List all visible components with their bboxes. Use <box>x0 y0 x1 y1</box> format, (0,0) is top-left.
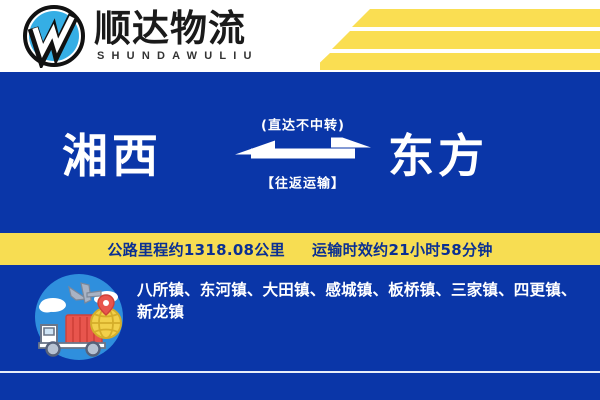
distance-text: 公路里程约1318.08公里 <box>107 241 285 259</box>
origin-city: 湘西 <box>62 120 162 186</box>
towns-list: 八所镇、东河镇、大田镇、感城镇、板桥镇、三家镇、四更镇、新龙镇 <box>137 279 579 323</box>
info-bar-content: 公路里程约1318.08公里 运输时效约21小时58分钟 <box>107 239 492 260</box>
brand-name-cn: 顺达物流 <box>94 10 259 49</box>
decorative-stripes <box>320 0 600 72</box>
brand-text: 顺达物流 SHUNDAWULIU <box>94 10 259 63</box>
brand-logo: 顺达物流 SHUNDAWULIU <box>22 4 259 68</box>
header: 顺达物流 SHUNDAWULIU <box>0 0 600 72</box>
destination-city: 东方 <box>388 120 488 186</box>
info-bar: 公路里程约1318.08公里 运输时效约21小时58分钟 <box>0 233 600 265</box>
brand-name-en: SHUNDAWULIU <box>97 50 259 62</box>
bidirectional-arrow-icon <box>233 137 373 167</box>
route-section: 湘西 (直达不中转) 【往返运输】 东方 <box>0 72 600 233</box>
logistics-route-banner: 顺达物流 SHUNDAWULIU 湘西 (直达不中转) 【往返 <box>0 0 600 400</box>
duration-text: 运输时效约21小时58分钟 <box>312 241 493 259</box>
logistics-truck-globe-icon <box>27 273 131 361</box>
route-middle: (直达不中转) 【往返运输】 <box>218 114 388 191</box>
route-note-direct: (直达不中转) <box>218 114 388 133</box>
footer-area <box>0 373 600 400</box>
towns-section: 八所镇、东河镇、大田镇、感城镇、板桥镇、三家镇、四更镇、新龙镇 <box>0 265 600 372</box>
route-note-roundtrip: 【往返运输】 <box>218 172 388 191</box>
circle-swoosh-logo-icon <box>22 4 86 68</box>
